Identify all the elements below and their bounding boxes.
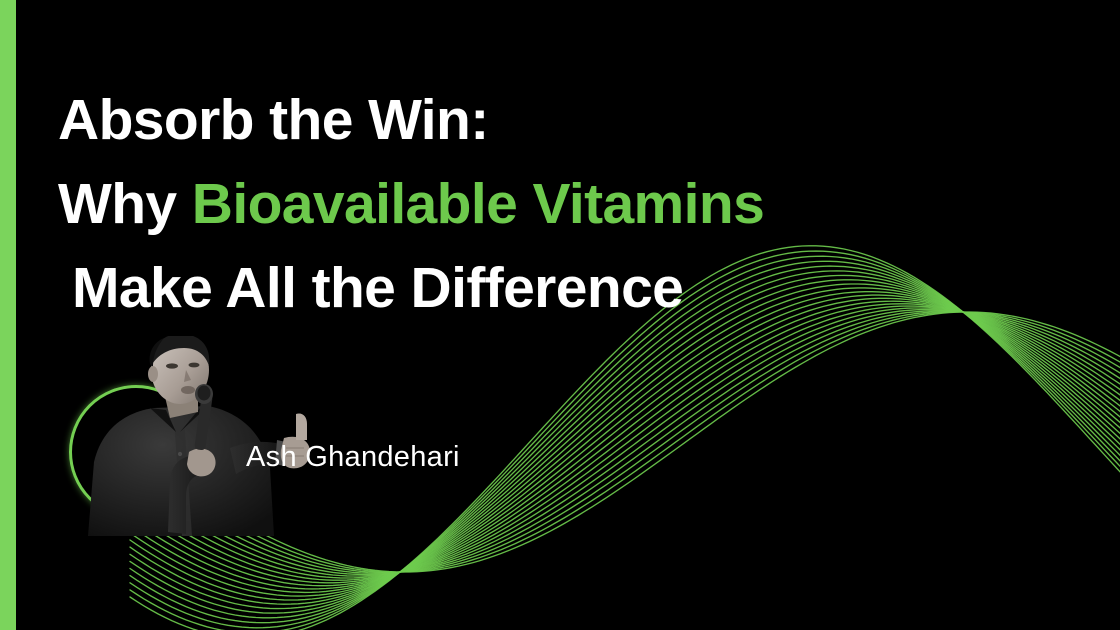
- headline-line-3: Make All the Difference: [58, 246, 958, 330]
- speaker-portrait-icon: [58, 336, 318, 536]
- page-title: Absorb the Win: Why Bioavailable Vitamin…: [58, 78, 958, 330]
- speaker-name: Ash Ghandehari: [246, 440, 460, 474]
- headline-line-1-text: Absorb the Win:: [58, 88, 489, 152]
- title-slide: Absorb the Win: Why Bioavailable Vitamin…: [0, 0, 1120, 630]
- headline-line-2-accent: Bioavailable Vitamins: [192, 172, 764, 236]
- headline-line-3-text: Make All the Difference: [72, 256, 683, 320]
- headline-line-2-prefix: Why: [58, 172, 192, 236]
- headline-line-2: Why Bioavailable Vitamins: [58, 162, 958, 246]
- speaker-block: Ash Ghandehari: [58, 336, 578, 536]
- left-accent-stripe: [0, 0, 16, 630]
- avatar: [58, 336, 318, 536]
- headline-line-1: Absorb the Win:: [58, 78, 958, 162]
